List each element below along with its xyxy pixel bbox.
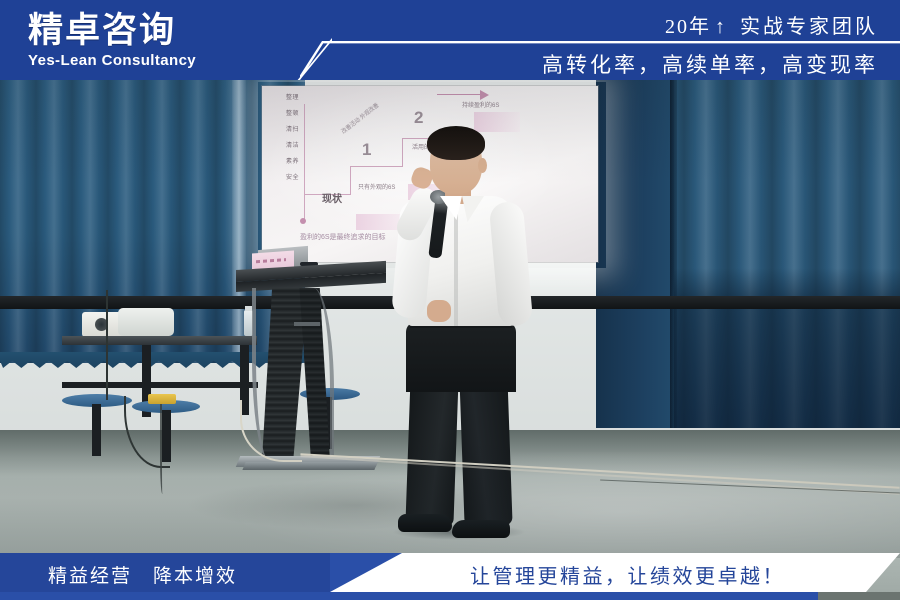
video-frame: 整理 整顿 清扫 清洁 素养 安全 1 2 现状 只有外观的6S 活用的6S 持… bbox=[0, 0, 900, 600]
slide-step-label-1: 只有外观的6S bbox=[358, 182, 395, 191]
speaker-leg-right bbox=[459, 375, 512, 527]
slide-step-number-1: 1 bbox=[362, 140, 371, 160]
speaker-trousers bbox=[406, 322, 516, 392]
speaker-shirt-placket bbox=[454, 214, 458, 326]
seminar-photo: 整理 整顿 清扫 清洁 素养 安全 1 2 现状 只有外观的6S 活用的6S 持… bbox=[0, 0, 900, 600]
slide-term-1: 整理 bbox=[286, 92, 312, 101]
header-years: 20年 bbox=[665, 16, 711, 38]
brand-logo-cn: 精卓咨询 bbox=[28, 13, 196, 48]
speaker-hand-lower bbox=[427, 300, 451, 322]
slide-up-arrow-icon bbox=[437, 90, 489, 100]
lectern-base-lower bbox=[242, 462, 377, 470]
header-tagline-bottom: 高转化率，高续单率，高变现率 bbox=[542, 49, 878, 79]
slide-footer-note: 盈利的6S是最终追求的目标 bbox=[300, 232, 386, 242]
brand-logo-en: Yes-Lean Consultancy bbox=[28, 52, 196, 69]
lectern-crossbar bbox=[294, 322, 320, 326]
speaker-ear bbox=[478, 158, 487, 173]
equipment-table bbox=[62, 336, 257, 345]
speaker-shoe-right bbox=[452, 520, 510, 538]
curtain-right-shadow bbox=[596, 78, 674, 428]
footer-bottom-strip-cut bbox=[818, 592, 900, 600]
slide-origin-dot-icon bbox=[300, 218, 306, 224]
speaker-hair bbox=[427, 126, 485, 160]
projector-body-rear bbox=[118, 308, 174, 336]
cable-vertical bbox=[160, 404, 166, 494]
up-arrow-icon: ↑ bbox=[715, 16, 728, 38]
stool-leg-1 bbox=[92, 404, 101, 456]
brand-logo: 精卓咨询 Yes-Lean Consultancy bbox=[28, 13, 196, 69]
slide-step-number-2: 2 bbox=[414, 108, 423, 128]
slide-step-label-3: 持续盈利的6S bbox=[462, 100, 499, 109]
slide-box-3 bbox=[474, 112, 520, 132]
table-crossbar bbox=[62, 382, 258, 388]
footer-bottom-strip bbox=[0, 592, 900, 600]
slide-baseline-label: 现状 bbox=[322, 190, 342, 205]
header-tagline-top-rest: 实战专家团队 bbox=[740, 16, 878, 38]
curtain-right-lower-shade bbox=[674, 268, 900, 428]
water-bottle-cap bbox=[245, 306, 252, 311]
footer-left-slogan: 精益经营 降本增效 bbox=[48, 561, 237, 588]
speaker-leg-left bbox=[405, 375, 458, 527]
footer-right-slogan: 让管理更精益，让绩效更卓越！ bbox=[470, 560, 785, 589]
speaker-shoe-left bbox=[398, 514, 452, 532]
header-tagline-top: 20年↑实战专家团队 bbox=[665, 10, 878, 39]
header-banner: 精卓咨询 Yes-Lean Consultancy 20年↑实战专家团队 高转化… bbox=[0, 0, 900, 80]
cable-projector bbox=[106, 290, 113, 400]
